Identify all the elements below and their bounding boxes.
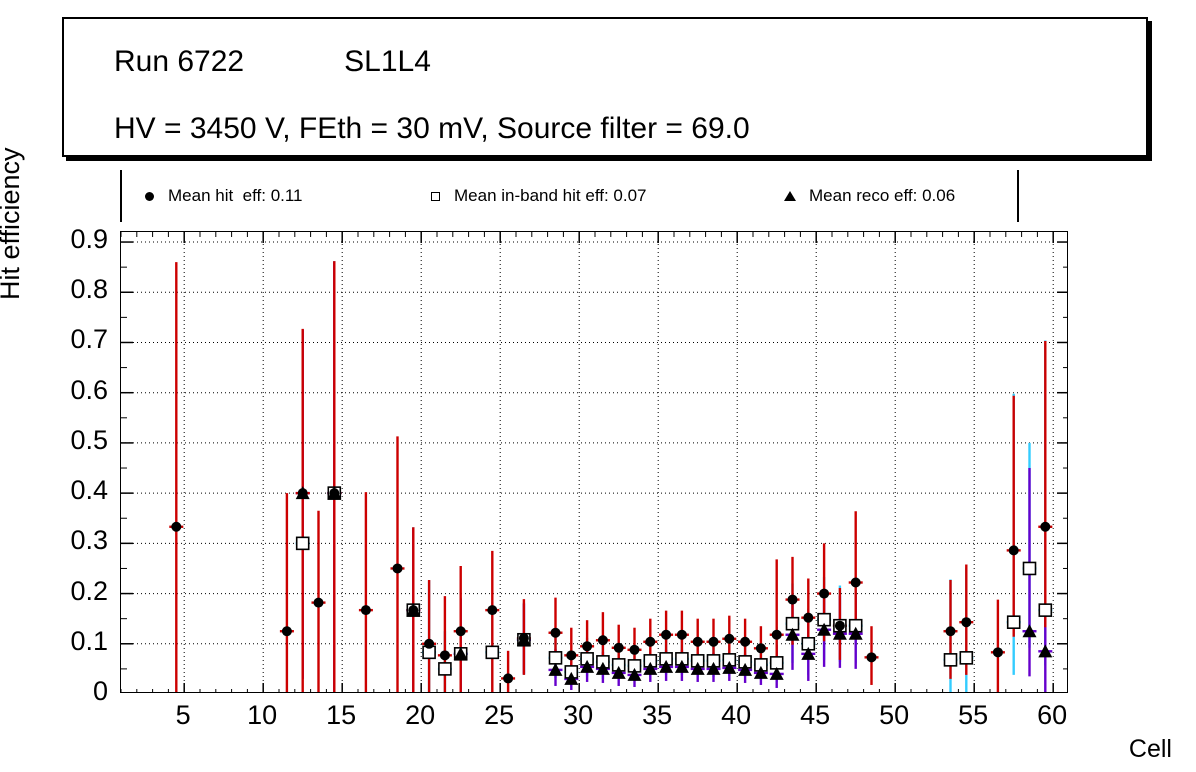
x-tick-label: 50: [864, 700, 924, 731]
x-tick-label: 10: [232, 700, 292, 731]
x-tick-label: 25: [469, 700, 529, 731]
legend-label-inband-eff: Mean in-band hit eff: 0.07: [454, 186, 647, 206]
axis-ticks: [121, 232, 1067, 692]
y-tick-label: 0.2: [38, 576, 108, 607]
legend-label-reco-eff: Mean reco eff: 0.06: [809, 186, 955, 206]
title-run-line: Run 6722 SL1L4: [114, 45, 431, 79]
title-settings-line: HV = 3450 V, FEth = 30 mV, Source filter…: [114, 112, 750, 146]
y-tick-label: 0: [38, 676, 108, 707]
y-tick-label: 0.5: [38, 425, 108, 456]
x-tick-label: 5: [153, 700, 213, 731]
y-tick-label: 0.1: [38, 626, 108, 657]
y-tick-label: 0.6: [38, 375, 108, 406]
y-tick-label: 0.3: [38, 525, 108, 556]
legend-label-hit-eff: Mean hit eff: 0.11: [168, 186, 303, 206]
y-axis-title: Hit efficiency: [0, 147, 26, 300]
y-tick-label: 0.4: [38, 475, 108, 506]
x-tick-label: 35: [627, 700, 687, 731]
x-tick-label: 15: [311, 700, 371, 731]
legend: Mean hit eff: 0.11 Mean in-band hit eff:…: [120, 170, 1019, 222]
x-axis-title: Cell: [1129, 735, 1172, 764]
y-tick-label: 0.8: [38, 274, 108, 305]
legend-entry-inband-eff: Mean in-band hit eff: 0.07: [422, 170, 647, 222]
legend-entry-reco-eff: Mean reco eff: 0.06: [777, 170, 955, 222]
x-tick-label: 40: [706, 700, 766, 731]
y-tick-label: 0.7: [38, 324, 108, 355]
y-tick-label: 0.9: [38, 224, 108, 255]
x-tick-label: 45: [785, 700, 845, 731]
x-tick-label: 20: [390, 700, 450, 731]
plot-area: [120, 231, 1068, 693]
filled-triangle-icon: [777, 191, 803, 201]
open-square-icon: [422, 192, 448, 201]
title-box: Run 6722 SL1L4 HV = 3450 V, FEth = 30 mV…: [62, 17, 1148, 157]
x-tick-label: 30: [548, 700, 608, 731]
x-tick-label: 55: [943, 700, 1003, 731]
x-tick-label: 60: [1022, 700, 1082, 731]
legend-entry-hit-eff: Mean hit eff: 0.11: [136, 170, 303, 222]
filled-circle-icon: [136, 192, 162, 201]
